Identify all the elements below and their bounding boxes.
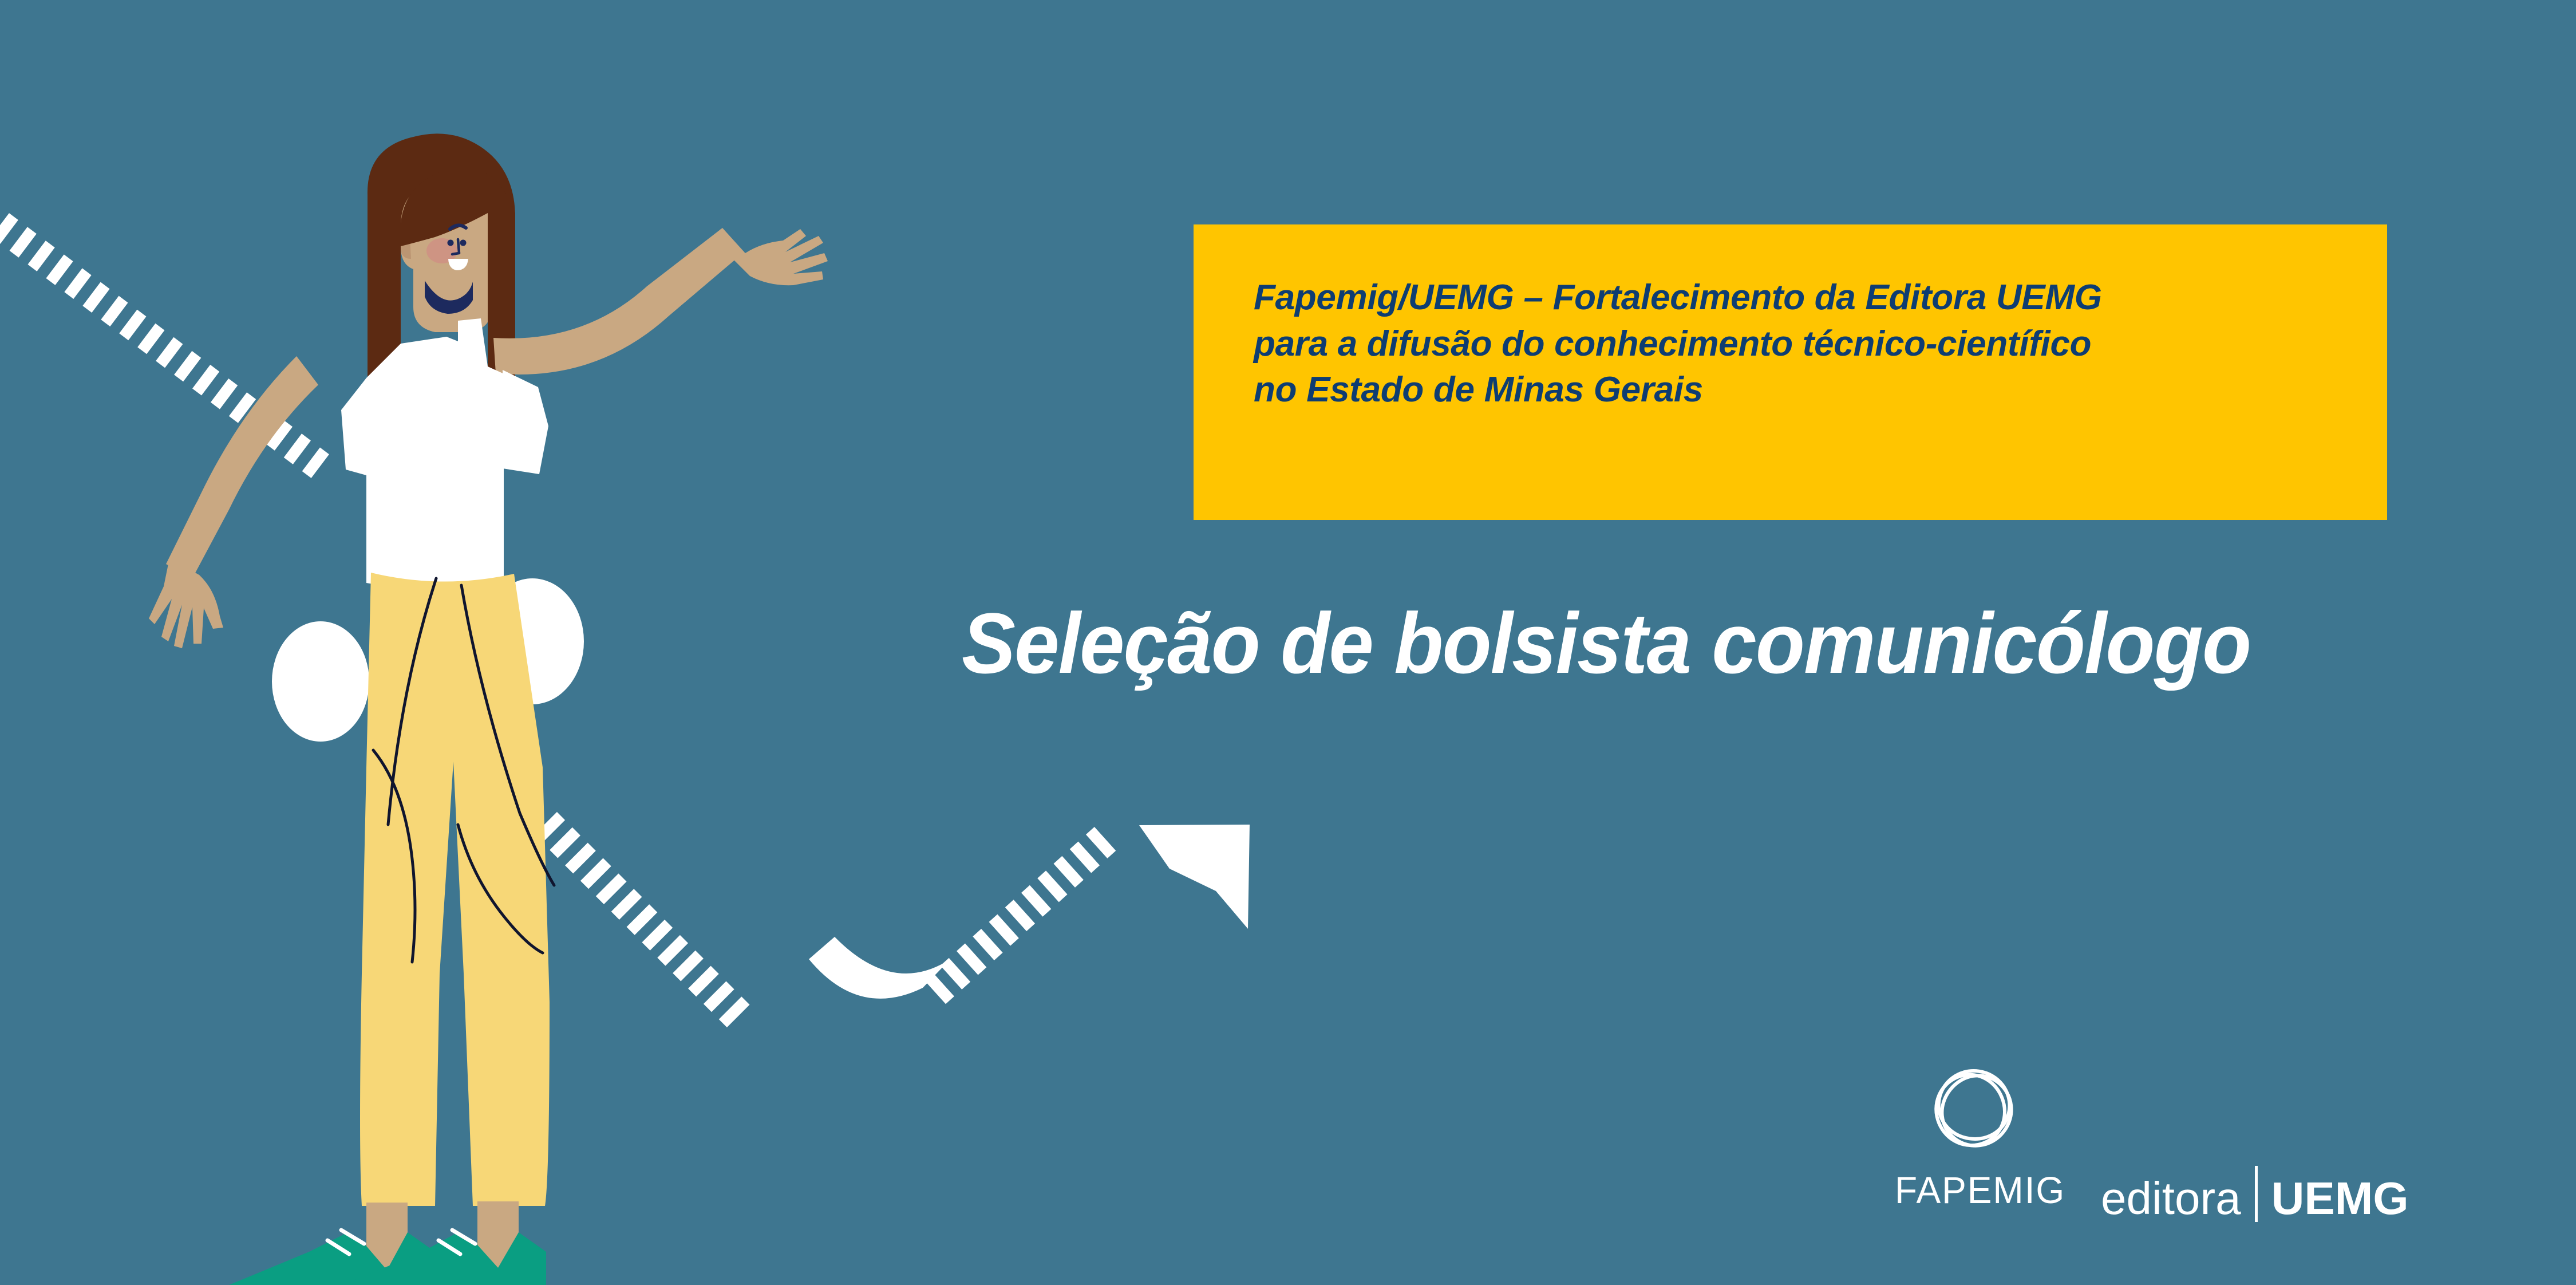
page-title: Seleção de bolsista comunicólogo	[962, 600, 2383, 715]
logo-row: FAPEMIG editora UEMG	[1895, 1054, 2536, 1243]
poster-canvas: Fapemig/UEMG – Fortalecimento da Editora…	[0, 0, 2576, 1285]
blouse-shoulder-right	[503, 370, 548, 474]
editora-wordmark: editora	[2101, 1172, 2241, 1225]
callout-line-3: no Estado de Minas Gerais	[1254, 367, 2387, 413]
arm-right	[493, 228, 744, 375]
dashed-ladder-arrow-rising	[538, 816, 1250, 1023]
pants	[360, 573, 550, 1206]
callout-box: Fapemig/UEMG – Fortalecimento da Editora…	[1194, 224, 2387, 520]
fapemig-wordmark: FAPEMIG	[1895, 1168, 2078, 1212]
logo-divider	[2255, 1166, 2258, 1222]
fapemig-interlocking-loops-icon	[1917, 1054, 2031, 1168]
arm-left	[166, 356, 318, 578]
eye-right	[460, 240, 467, 246]
white-circle-behind-left-leg	[272, 621, 369, 742]
fapemig-logo: FAPEMIG	[1895, 1054, 2095, 1225]
editora-uemg-logo: editora UEMG	[2101, 1158, 2409, 1215]
callout-line-2: para a difusão do conhecimento técnico-c…	[1254, 321, 2387, 368]
callout-line-1: Fapemig/UEMG – Fortalecimento da Editora…	[1254, 275, 2387, 321]
hand-left	[149, 558, 223, 648]
woman-figure	[149, 133, 828, 1285]
hand-right	[720, 229, 828, 285]
eye-left	[448, 240, 454, 246]
uemg-wordmark: UEMG	[2271, 1172, 2409, 1225]
